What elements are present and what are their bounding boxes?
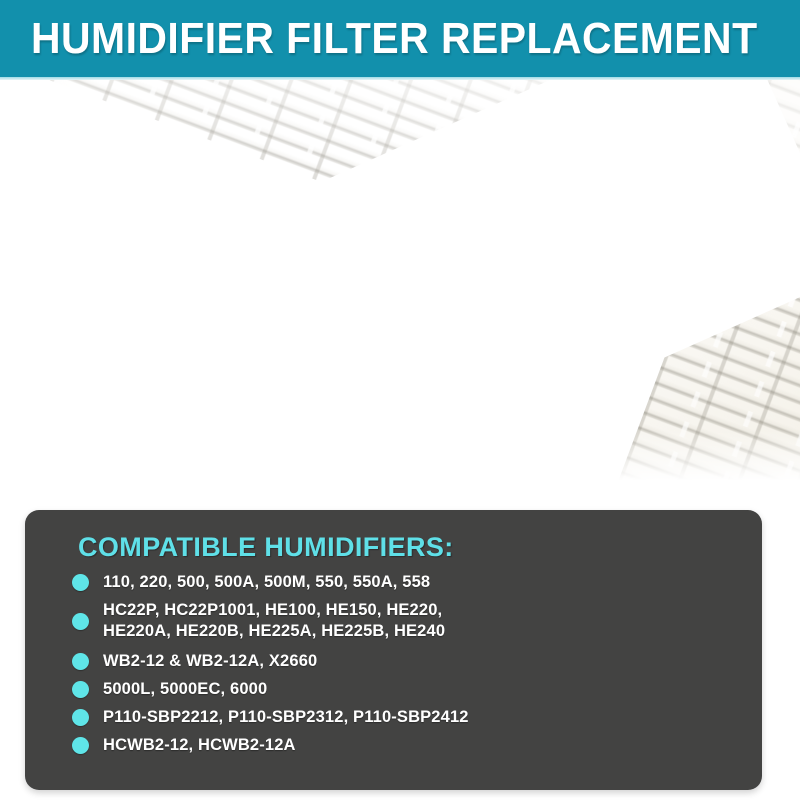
list-item: HCWB2-12, HCWB2-12A	[72, 735, 744, 756]
list-item: 110, 220, 500, 500A, 500M, 550, 550A, 55…	[72, 572, 744, 593]
list-item-label: P110-SBP2212, P110-SBP2312, P110-SBP2412	[103, 707, 469, 728]
list-item: 5000L, 5000EC, 6000	[72, 679, 744, 700]
list-item: HC22P, HC22P1001, HE100, HE150, HE220, H…	[72, 600, 744, 642]
list-item: P110-SBP2212, P110-SBP2312, P110-SBP2412	[72, 707, 744, 728]
compatibility-panel: COMPATIBLE HUMIDIFIERS: 110, 220, 500, 5…	[25, 510, 762, 790]
list-item-label: 5000L, 5000EC, 6000	[103, 679, 267, 700]
bullet-dot-icon	[72, 709, 89, 726]
bullet-dot-icon	[72, 737, 89, 754]
product-photo	[0, 80, 800, 500]
list-item-label: 110, 220, 500, 500A, 500M, 550, 550A, 55…	[103, 572, 430, 593]
bullet-dot-icon	[72, 653, 89, 670]
list-item-label: HCWB2-12, HCWB2-12A	[103, 735, 296, 756]
list-item-label: WB2-12 & WB2-12A, X2660	[103, 651, 317, 672]
bullet-dot-icon	[72, 574, 89, 591]
list-item: WB2-12 & WB2-12A, X2660	[72, 651, 744, 672]
product-infographic: HUMIDIFIER FILTER REPLACEMENT COMPATIBLE…	[0, 0, 800, 800]
page-title: HUMIDIFIER FILTER REPLACEMENT	[31, 17, 758, 61]
bullet-dot-icon	[72, 613, 89, 630]
photo-bottom-fade	[0, 430, 800, 500]
compatibility-heading: COMPATIBLE HUMIDIFIERS:	[78, 532, 454, 563]
bullet-dot-icon	[72, 681, 89, 698]
list-item-label: HC22P, HC22P1001, HE100, HE150, HE220, H…	[103, 600, 445, 642]
compatibility-list: 110, 220, 500, 500A, 500M, 550, 550A, 55…	[72, 572, 744, 763]
header-banner: HUMIDIFIER FILTER REPLACEMENT	[0, 0, 800, 77]
